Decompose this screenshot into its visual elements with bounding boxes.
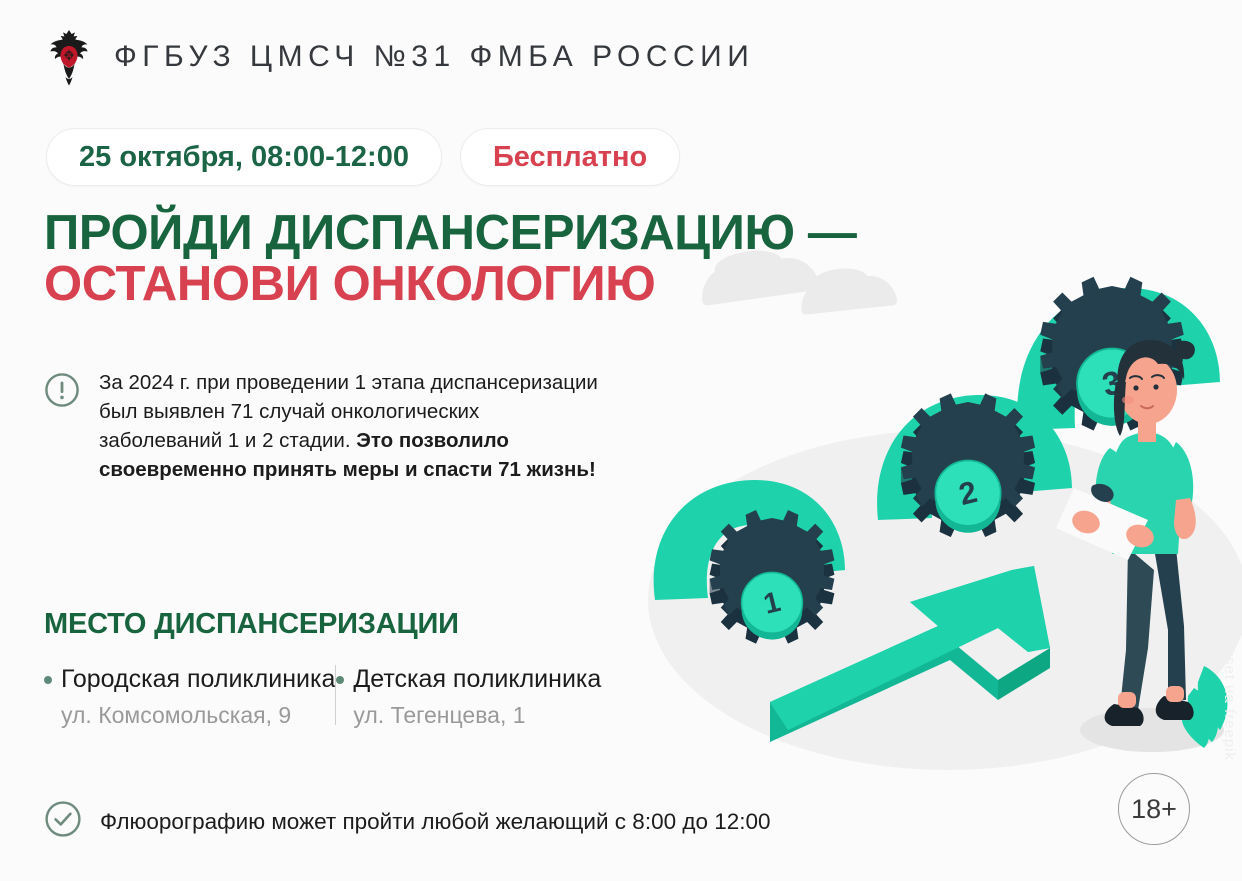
date-badge[interactable]: 25 октября, 08:00-12:00 [46, 128, 442, 186]
place-section: МЕСТО ДИСПАНСЕРИЗАЦИИ Городская поликлин… [44, 608, 601, 731]
statistics-text: За 2024 г. при проведении 1 этапа диспан… [99, 368, 604, 484]
badge-row: 25 октября, 08:00-12:00 Бесплатно [46, 128, 680, 186]
clinic-name: Городская поликлиника [61, 663, 335, 696]
list-item[interactable]: Детская поликлиника ул. Тегенцева, 1 [336, 663, 601, 731]
clinic-address: ул. Комсомольская, 9 [61, 700, 335, 731]
clinic-name: Детская поликлиника [353, 663, 601, 696]
gear-1: 1 [710, 510, 835, 644]
header: ФГБУЗ ЦМСЧ №31 ФМБА РОССИИ [46, 26, 754, 88]
exclamation-circle-icon [44, 372, 80, 408]
statistics-block: За 2024 г. при проведении 1 этапа диспан… [44, 368, 604, 484]
clinic-address: ул. Тегенцева, 1 [353, 700, 601, 731]
russian-double-headed-eagle-emblem-icon [46, 26, 92, 88]
bullet-icon [336, 676, 344, 684]
clinic-list: Городская поликлиника ул. Комсомольская,… [44, 663, 601, 731]
footer-note-text: Флюорографию может пройти любой желающий… [100, 809, 771, 835]
check-circle-icon [44, 800, 82, 843]
footer-note: Флюорографию может пройти любой желающий… [44, 800, 771, 843]
gears-progress-illustration: 3 2 1 [620, 230, 1242, 790]
bullet-icon [44, 676, 52, 684]
free-badge[interactable]: Бесплатно [460, 128, 680, 186]
headline-line-1: ПРОЙДИ ДИСПАНСЕРИЗАЦИЮ — [44, 208, 856, 259]
headline-line-2: ОСТАНОВИ ОНКОЛОГИЮ [44, 259, 856, 310]
age-rating-badge: 18+ [1118, 773, 1190, 845]
place-section-title: МЕСТО ДИСПАНСЕРИЗАЦИИ [44, 608, 601, 641]
watermark: Storyset на freepik [1221, 617, 1238, 761]
list-item[interactable]: Городская поликлиника ул. Комсомольская,… [44, 663, 335, 731]
organization-title: ФГБУЗ ЦМСЧ №31 ФМБА РОССИИ [114, 40, 754, 74]
gear-2: 2 [901, 393, 1035, 537]
poster-canvas: ФГБУЗ ЦМСЧ №31 ФМБА РОССИИ 25 октября, 0… [0, 0, 1242, 881]
statistics-regular-text: За 2024 г. при проведении 1 этапа диспан… [99, 371, 598, 452]
page-title: ПРОЙДИ ДИСПАНСЕРИЗАЦИЮ — ОСТАНОВИ ОНКОЛО… [44, 208, 856, 310]
